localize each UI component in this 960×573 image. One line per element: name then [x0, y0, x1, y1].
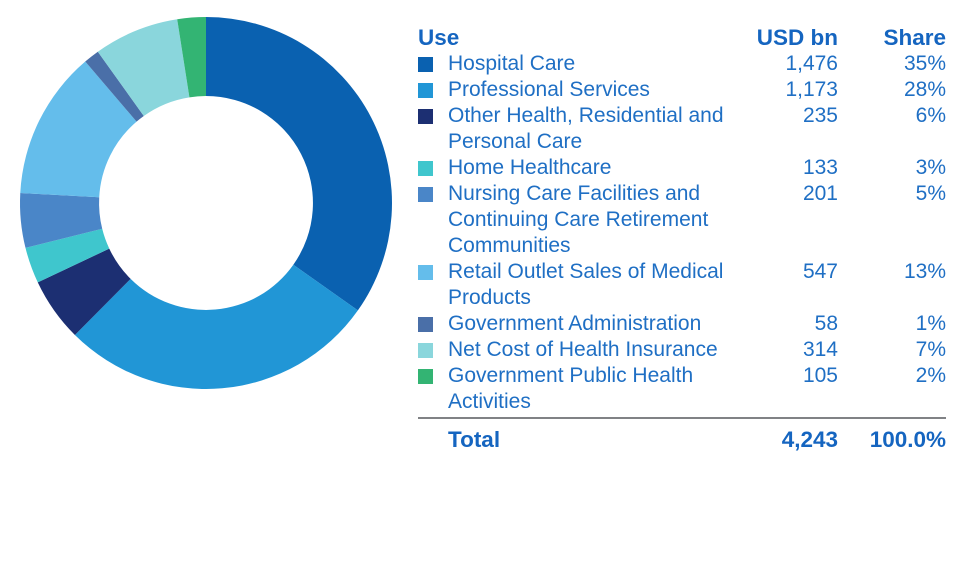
share-value-cell: 7%	[838, 337, 946, 363]
column-header-use: Use	[418, 24, 743, 51]
legend-data-table: Use USD bn Share Hospital Care1,47635%Pr…	[418, 24, 946, 453]
legend-label-cell: Home Healthcare	[418, 155, 743, 181]
legend-color-swatch	[418, 369, 433, 384]
usd-value-cell: 235	[743, 103, 838, 155]
usd-value-cell: 1,476	[743, 51, 838, 77]
legend-color-swatch	[418, 343, 433, 358]
legend-label-cell: Hospital Care	[418, 51, 743, 77]
table-row: Government Administration581%	[418, 311, 946, 337]
legend-label-cell: Government Public Health Activities	[418, 363, 743, 415]
legend-label-text: Hospital Care	[448, 52, 575, 75]
table-body: Hospital Care1,47635%Professional Servic…	[418, 51, 946, 415]
donut-chart	[18, 15, 394, 391]
legend-color-swatch	[418, 265, 433, 280]
share-value-cell: 5%	[838, 181, 946, 259]
legend-label-text: Net Cost of Health Insurance	[448, 338, 718, 361]
total-share-value: 100.0%	[838, 426, 946, 453]
table-row: Professional Services1,17328%	[418, 77, 946, 103]
legend-label-text: Home Healthcare	[448, 156, 611, 179]
share-value-cell: 6%	[838, 103, 946, 155]
share-value-cell: 13%	[838, 259, 946, 311]
usd-value-cell: 314	[743, 337, 838, 363]
usd-value-cell: 105	[743, 363, 838, 415]
total-row: Total 4,243 100.0%	[418, 426, 946, 453]
share-value-cell: 1%	[838, 311, 946, 337]
table-row: Government Public Health Activities1052%	[418, 363, 946, 415]
table-row: Nursing Care Facilities and Continuing C…	[418, 181, 946, 259]
donut-chart-svg	[18, 15, 394, 391]
table-row: Home Healthcare1333%	[418, 155, 946, 181]
usd-value-cell: 547	[743, 259, 838, 311]
legend-label-cell: Net Cost of Health Insurance	[418, 337, 743, 363]
legend-color-swatch	[418, 317, 433, 332]
legend-label-text: Government Administration	[448, 312, 701, 335]
legend-label-text: Government Public Health Activities	[448, 364, 693, 413]
usd-value-cell: 58	[743, 311, 838, 337]
legend-label-cell: Other Health, Residential and Personal C…	[418, 103, 743, 155]
total-usd-value: 4,243	[743, 426, 838, 453]
total-divider-row	[418, 415, 946, 426]
total-divider-cell	[418, 415, 946, 426]
usd-value-cell: 133	[743, 155, 838, 181]
column-header-usd: USD bn	[743, 24, 838, 51]
legend-label-cell: Professional Services	[418, 77, 743, 103]
legend-color-swatch	[418, 83, 433, 98]
legend-color-swatch	[418, 187, 433, 202]
legend-color-swatch	[418, 109, 433, 124]
legend-label-cell: Nursing Care Facilities and Continuing C…	[418, 181, 743, 259]
table-header-row: Use USD bn Share	[418, 24, 946, 51]
legend-label-text: Other Health, Residential and Personal C…	[448, 104, 724, 153]
legend-label-cell: Retail Outlet Sales of Medical Products	[418, 259, 743, 311]
table-row: Other Health, Residential and Personal C…	[418, 103, 946, 155]
legend-color-swatch	[418, 57, 433, 72]
share-value-cell: 2%	[838, 363, 946, 415]
total-label: Total	[418, 426, 743, 453]
usd-value-cell: 201	[743, 181, 838, 259]
legend-label-text: Retail Outlet Sales of Medical Products	[448, 260, 723, 309]
healthcare-spending-donut-figure: Use USD bn Share Hospital Care1,47635%Pr…	[0, 0, 960, 573]
legend-label-text: Nursing Care Facilities and Continuing C…	[448, 182, 708, 257]
legend-label-text: Professional Services	[448, 78, 650, 101]
share-value-cell: 35%	[838, 51, 946, 77]
legend-label-cell: Government Administration	[418, 311, 743, 337]
share-value-cell: 28%	[838, 77, 946, 103]
total-divider-line	[418, 417, 946, 419]
usd-value-cell: 1,173	[743, 77, 838, 103]
share-value-cell: 3%	[838, 155, 946, 181]
column-header-share: Share	[838, 24, 946, 51]
donut-slice	[206, 17, 392, 310]
legend-color-swatch	[418, 161, 433, 176]
table-row: Hospital Care1,47635%	[418, 51, 946, 77]
donut-slice-group	[20, 17, 392, 389]
table-row: Net Cost of Health Insurance3147%	[418, 337, 946, 363]
table-row: Retail Outlet Sales of Medical Products5…	[418, 259, 946, 311]
